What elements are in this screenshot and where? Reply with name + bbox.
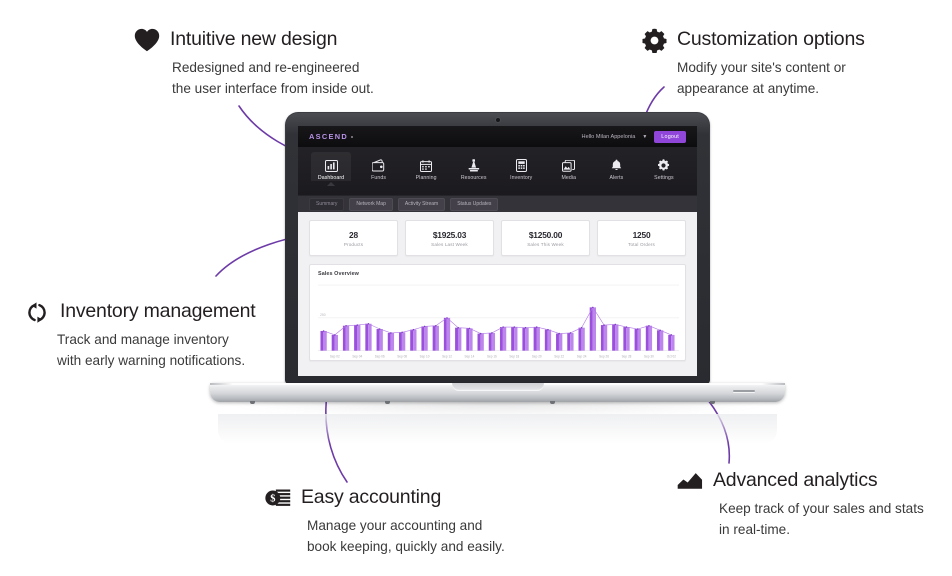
app-logo: ASCEND bbox=[309, 132, 353, 141]
laptop-lid: ASCEND Hello Milan Appelonia ▼ Logout bbox=[285, 112, 710, 384]
bar bbox=[590, 307, 593, 350]
bar bbox=[567, 333, 570, 351]
trend-point bbox=[671, 334, 673, 336]
chart-up-icon bbox=[677, 468, 703, 494]
user-greeting: Hello Milan Appelonia bbox=[582, 134, 636, 140]
stat-value: 28 bbox=[349, 230, 358, 240]
app-logo-text: ASCEND bbox=[309, 132, 348, 141]
bar bbox=[323, 331, 326, 351]
bar bbox=[657, 330, 660, 350]
bar bbox=[365, 324, 368, 351]
photos-icon bbox=[562, 155, 575, 172]
money-stack-icon: $ bbox=[265, 485, 291, 511]
tab-network-map[interactable]: Network Map bbox=[349, 198, 392, 211]
trend-point bbox=[446, 317, 448, 319]
callout-inventory-management: Inventory management Track and manage in… bbox=[24, 299, 255, 371]
stat-card-total-orders[interactable]: 1250 Total Orders bbox=[597, 220, 686, 256]
bar bbox=[421, 326, 424, 350]
bar bbox=[458, 328, 461, 351]
bar bbox=[357, 325, 360, 351]
callout-body-line: Modify your site's content or bbox=[677, 58, 865, 79]
chevron-down-icon[interactable]: ▼ bbox=[642, 134, 647, 140]
user-area: Hello Milan Appelonia ▼ Logout bbox=[582, 131, 686, 143]
trend-point bbox=[401, 331, 403, 333]
bar bbox=[335, 335, 338, 351]
x-axis-tick-label: Sep 10 bbox=[420, 354, 430, 358]
trend-point bbox=[435, 325, 437, 327]
logout-button[interactable]: Logout bbox=[654, 131, 686, 143]
bar bbox=[388, 333, 391, 351]
bar bbox=[581, 328, 584, 351]
bar bbox=[433, 326, 436, 351]
laptop-screen: ASCEND Hello Milan Appelonia ▼ Logout bbox=[298, 126, 697, 376]
trend-point bbox=[413, 329, 415, 331]
base-foot bbox=[385, 401, 390, 404]
trend-point bbox=[581, 327, 583, 329]
bar bbox=[578, 328, 581, 351]
nav-item-alerts[interactable]: Alerts bbox=[596, 152, 636, 181]
laptop-mockup: ASCEND Hello Milan Appelonia ▼ Logout bbox=[210, 112, 785, 424]
bar bbox=[332, 335, 335, 351]
bar bbox=[377, 329, 380, 351]
base-notch bbox=[452, 383, 544, 391]
sales-overview-panel: Sales Overview 500 Units250Sep 02Sep 04S… bbox=[309, 264, 686, 361]
callout-body-line: the user interface from inside out. bbox=[172, 79, 374, 100]
factory-icon bbox=[468, 155, 480, 172]
stat-card-sales-this-week[interactable]: $1250.00 Sales This Week bbox=[501, 220, 590, 256]
nav-item-planning[interactable]: Planning bbox=[406, 152, 446, 181]
x-axis-tick-label: Sep 28 bbox=[622, 354, 632, 358]
stat-label: Total Orders bbox=[628, 242, 655, 247]
bar bbox=[489, 333, 492, 351]
x-axis-tick-label: Sep 12 bbox=[442, 354, 452, 358]
bar bbox=[455, 328, 458, 351]
bar bbox=[537, 327, 540, 351]
app-tabbar: Summary Network Map Activity Stream Stat… bbox=[298, 196, 697, 212]
gear-icon bbox=[641, 27, 667, 53]
bar bbox=[522, 328, 525, 351]
x-axis-tick-label: Sep 04 bbox=[352, 354, 362, 358]
stat-label: Sales Last Week bbox=[431, 242, 468, 247]
bar bbox=[410, 330, 413, 351]
callout-body: Keep track of your sales and stats in re… bbox=[719, 499, 924, 540]
callout-body: Modify your site's content or appearance… bbox=[677, 58, 865, 99]
callout-title: Inventory management bbox=[60, 302, 255, 322]
nav-item-settings[interactable]: Settings bbox=[644, 152, 684, 181]
callout-body-line: with early warning notifications. bbox=[57, 351, 255, 372]
stat-cards: 28 Products $1925.03 Sales Last Week $12… bbox=[309, 220, 686, 256]
trend-point bbox=[491, 332, 493, 334]
trend-point bbox=[626, 326, 628, 328]
x-axis-tick-label: Sep 18 bbox=[509, 354, 519, 358]
bar bbox=[444, 318, 447, 351]
trend-point bbox=[637, 328, 639, 330]
bar bbox=[534, 327, 537, 351]
bar bbox=[649, 326, 652, 351]
bar bbox=[570, 333, 573, 351]
x-axis-tick-label: Sep 14 bbox=[465, 354, 475, 358]
tab-activity-stream[interactable]: Activity Stream bbox=[398, 198, 445, 211]
nav-label: Inventory bbox=[510, 175, 532, 181]
callout-title: Easy accounting bbox=[301, 488, 441, 508]
webcam-icon bbox=[496, 118, 500, 122]
x-axis-tick-label: Sep 16 bbox=[487, 354, 497, 358]
x-axis-tick-label: Sep 20 bbox=[532, 354, 542, 358]
trend-point bbox=[357, 324, 359, 326]
callout-body: Redesigned and re-engineered the user in… bbox=[172, 58, 374, 99]
trend-point bbox=[334, 334, 336, 336]
callout-customization-options: Customization options Modify your site's… bbox=[641, 27, 865, 99]
trend-point bbox=[558, 333, 560, 335]
refresh-sync-icon bbox=[24, 299, 50, 325]
stat-value: $1250.00 bbox=[529, 230, 562, 240]
stat-value: $1925.03 bbox=[433, 230, 466, 240]
bar bbox=[635, 329, 638, 351]
bar bbox=[668, 335, 671, 351]
base-foot bbox=[710, 401, 715, 404]
trend-point bbox=[323, 330, 325, 332]
bar bbox=[601, 325, 604, 351]
bar bbox=[379, 329, 382, 351]
trend-point bbox=[345, 325, 347, 327]
nav-label: Alerts bbox=[609, 175, 623, 181]
bar bbox=[604, 325, 607, 351]
trend-point bbox=[457, 327, 459, 329]
nav-label: Media bbox=[561, 175, 576, 181]
callout-title: Intuitive new design bbox=[170, 30, 337, 50]
nav-label: Planning bbox=[416, 175, 437, 181]
callout-advanced-analytics: Advanced analytics Keep track of your sa… bbox=[677, 468, 924, 540]
sales-chart-svg: 500 Units250Sep 02Sep 04Sep 06Sep 08Sep … bbox=[318, 283, 679, 360]
base-foot bbox=[550, 401, 555, 404]
bar bbox=[626, 327, 629, 351]
nav-item-funds[interactable]: Funds bbox=[359, 152, 399, 181]
bar bbox=[343, 326, 346, 351]
bar bbox=[660, 330, 663, 350]
bar bbox=[413, 330, 416, 351]
trend-line bbox=[324, 307, 672, 335]
bar bbox=[525, 328, 528, 351]
nav-item-inventory[interactable]: Inventory bbox=[501, 152, 541, 181]
callout-body: Track and manage inventory with early wa… bbox=[57, 330, 255, 371]
bar bbox=[320, 331, 323, 351]
bar bbox=[368, 324, 371, 351]
callout-body: Manage your accounting and book keeping,… bbox=[307, 516, 505, 557]
bar bbox=[637, 329, 640, 351]
tab-status-updates[interactable]: Status Updates bbox=[450, 198, 498, 211]
stat-label: Sales This Week bbox=[527, 242, 564, 247]
trend-point bbox=[502, 326, 504, 328]
bar bbox=[399, 332, 402, 350]
nav-item-resources[interactable]: Resources bbox=[454, 152, 494, 181]
bar bbox=[623, 327, 626, 351]
nav-label: Dashboard bbox=[318, 175, 344, 181]
bar bbox=[612, 324, 615, 350]
trend-point bbox=[648, 325, 650, 327]
stat-value: 1250 bbox=[633, 230, 651, 240]
bar bbox=[559, 334, 562, 351]
x-axis-tick-label: Sep 08 bbox=[397, 354, 407, 358]
bar bbox=[503, 327, 506, 351]
callout-head: Advanced analytics bbox=[677, 468, 924, 494]
stat-card-sales-last-week[interactable]: $1925.03 Sales Last Week bbox=[405, 220, 494, 256]
trend-point bbox=[514, 326, 516, 328]
bar bbox=[466, 328, 469, 350]
stat-label: Products bbox=[344, 242, 363, 247]
callout-head: Intuitive new design bbox=[134, 27, 374, 53]
panel-title: Sales Overview bbox=[318, 271, 677, 277]
callout-body-line: appearance at anytime. bbox=[677, 79, 865, 100]
trend-point bbox=[525, 327, 527, 329]
bar bbox=[545, 330, 548, 351]
app-navbar: Dashboard Funds bbox=[298, 147, 697, 196]
base-slot-icon bbox=[733, 390, 755, 392]
ascend-dashboard-app: ASCEND Hello Milan Appelonia ▼ Logout bbox=[298, 126, 697, 376]
callout-body-line: book keeping, quickly and easily. bbox=[307, 537, 505, 558]
bar bbox=[615, 324, 618, 350]
feature-overview-graphic: ASCEND Hello Milan Appelonia ▼ Logout bbox=[0, 0, 952, 576]
bar-chart-icon bbox=[325, 155, 338, 172]
x-axis-tick-label: Sep 26 bbox=[599, 354, 609, 358]
app-content: 28 Products $1925.03 Sales Last Week $12… bbox=[298, 212, 697, 376]
device-icon bbox=[516, 155, 527, 172]
bar bbox=[346, 326, 349, 351]
callout-body-line: in real-time. bbox=[719, 520, 924, 541]
bar bbox=[447, 318, 450, 351]
bell-icon bbox=[611, 155, 622, 172]
y-axis-tick-label: 250 bbox=[320, 313, 326, 317]
trend-point bbox=[379, 328, 381, 330]
bar bbox=[402, 332, 405, 350]
tab-summary[interactable]: Summary bbox=[309, 198, 344, 211]
trend-point bbox=[424, 326, 426, 328]
trend-point bbox=[368, 323, 370, 325]
sales-chart: 500 Units250Sep 02Sep 04Sep 06Sep 08Sep … bbox=[318, 283, 679, 360]
callout-body-line: Redesigned and re-engineered bbox=[172, 58, 374, 79]
base-reflection bbox=[218, 414, 777, 444]
x-axis-tick-label: Sep 24 bbox=[577, 354, 587, 358]
trend-point bbox=[615, 324, 617, 326]
bar bbox=[671, 335, 674, 351]
nav-item-media[interactable]: Media bbox=[549, 152, 589, 181]
x-axis-tick-label: Sep 06 bbox=[375, 354, 385, 358]
trend-point bbox=[536, 326, 538, 328]
y-axis-tick-label: 500 Units bbox=[320, 283, 335, 284]
bar bbox=[469, 328, 472, 350]
svg-text:$: $ bbox=[270, 494, 275, 505]
bar bbox=[646, 326, 649, 351]
trend-point bbox=[570, 332, 572, 334]
trend-point bbox=[592, 307, 594, 309]
trend-point bbox=[603, 324, 605, 326]
x-axis-tick-label: Oct 02 bbox=[667, 354, 676, 358]
bar bbox=[593, 307, 596, 350]
callout-title: Advanced analytics bbox=[713, 471, 877, 491]
callout-easy-accounting: $ Easy accounting Manage your accounting… bbox=[265, 485, 505, 557]
trend-point bbox=[390, 332, 392, 334]
bar bbox=[354, 325, 357, 351]
trend-point bbox=[547, 329, 549, 331]
x-axis-tick-label: Sep 30 bbox=[644, 354, 654, 358]
bar bbox=[480, 334, 483, 351]
stat-card-products[interactable]: 28 Products bbox=[309, 220, 398, 256]
x-axis-tick-label: Sep 02 bbox=[330, 354, 340, 358]
callout-head: Inventory management bbox=[24, 299, 255, 325]
app-topbar: ASCEND Hello Milan Appelonia ▼ Logout bbox=[298, 126, 697, 147]
bar bbox=[436, 326, 439, 351]
callout-head: Customization options bbox=[641, 27, 865, 53]
callout-body-line: Keep track of your sales and stats bbox=[719, 499, 924, 520]
bar bbox=[391, 333, 394, 351]
bar bbox=[492, 333, 495, 351]
trend-point bbox=[469, 328, 471, 330]
bar bbox=[511, 327, 514, 351]
calendar-icon bbox=[420, 155, 432, 172]
nav-label: Resources bbox=[461, 175, 487, 181]
x-axis-tick-label: Sep 22 bbox=[554, 354, 564, 358]
heart-icon bbox=[134, 27, 160, 53]
nav-label: Funds bbox=[371, 175, 386, 181]
callout-body-line: Track and manage inventory bbox=[57, 330, 255, 351]
gear-icon bbox=[657, 155, 670, 172]
base-foot bbox=[250, 401, 255, 404]
trend-point bbox=[659, 330, 661, 332]
callout-body-line: Manage your accounting and bbox=[307, 516, 505, 537]
bar bbox=[548, 330, 551, 351]
callout-head: $ Easy accounting bbox=[265, 485, 505, 511]
trend-point bbox=[480, 333, 482, 335]
bar bbox=[500, 327, 503, 351]
bar bbox=[478, 334, 481, 351]
nav-item-dashboard[interactable]: Dashboard bbox=[311, 152, 351, 181]
laptop-base bbox=[210, 383, 785, 402]
bar bbox=[424, 326, 427, 350]
bar bbox=[514, 327, 517, 351]
bar bbox=[556, 334, 559, 351]
callout-title: Customization options bbox=[677, 30, 865, 50]
callout-intuitive-new-design: Intuitive new design Redesigned and re-e… bbox=[134, 27, 374, 99]
wallet-icon bbox=[372, 155, 385, 172]
nav-label: Settings bbox=[654, 175, 674, 181]
logo-dot-icon bbox=[351, 136, 353, 138]
